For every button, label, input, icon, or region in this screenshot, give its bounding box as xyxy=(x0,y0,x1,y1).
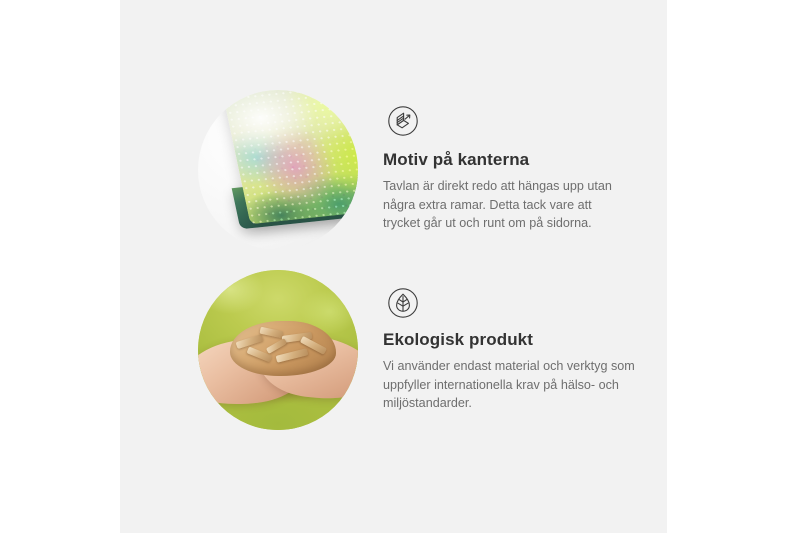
feature-title: Ekologisk produkt xyxy=(383,330,683,350)
feature-description-line: några extra ramar. Detta tack vare att xyxy=(383,196,683,214)
feature-description: Tavlan är direkt redo att hängas upp uta… xyxy=(383,177,683,232)
feature-description-line: uppfyller internationella krav på hälso-… xyxy=(383,376,683,394)
content-panel: Motiv på kanterna Tavlan är direkt redo … xyxy=(120,0,667,533)
canvas-wrapped-edge-icon xyxy=(385,103,421,139)
feature-description-line: trycket går ut och runt om på sidorna. xyxy=(383,214,683,232)
feature-title: Motiv på kanterna xyxy=(383,150,683,170)
feature-text-edges: Motiv på kanterna Tavlan är direkt redo … xyxy=(383,150,683,232)
wood-chip xyxy=(266,338,287,354)
wood-chip xyxy=(259,326,283,337)
hands-with-wood-chips-photo xyxy=(198,270,358,430)
feature-block-edges: Motiv på kanterna Tavlan är direkt redo … xyxy=(120,70,667,260)
feature-text-eco: Ekologisk produkt Vi använder endast mat… xyxy=(383,330,683,412)
feature-block-eco: Ekologisk produkt Vi använder endast mat… xyxy=(120,252,667,442)
wood-chip xyxy=(276,348,308,363)
feature-description-line: Tavlan är direkt redo att hängas upp uta… xyxy=(383,177,683,195)
feature-description-line: miljöstandarder. xyxy=(383,394,683,412)
leaf-icon xyxy=(385,285,421,321)
canvas-print-corner-photo xyxy=(198,90,358,250)
wood-chips-pile xyxy=(230,321,336,375)
feature-description-line: Vi använder endast material och verktyg … xyxy=(383,357,683,375)
product-feature-infographic: Motiv på kanterna Tavlan är direkt redo … xyxy=(0,0,800,533)
feature-description: Vi använder endast material och verktyg … xyxy=(383,357,683,412)
